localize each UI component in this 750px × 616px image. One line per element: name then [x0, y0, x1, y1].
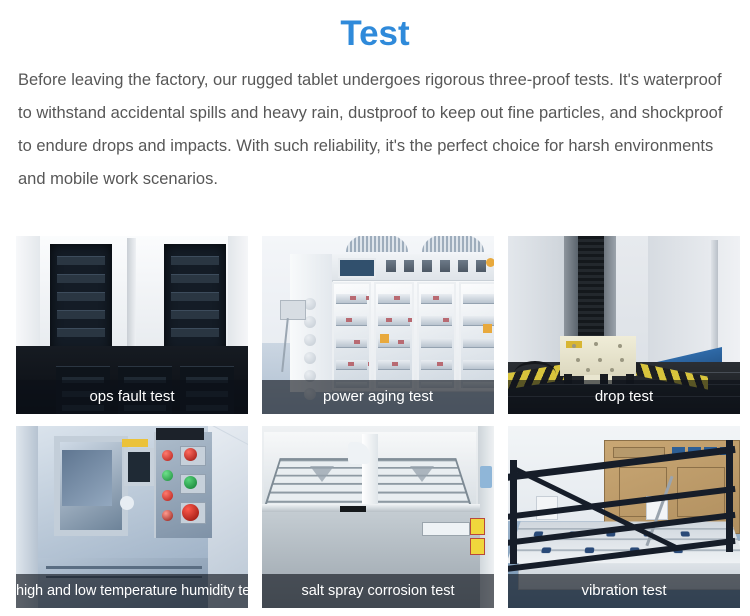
gallery-tile-ops-fault-test[interactable]: ops fault test	[16, 236, 248, 414]
tile-caption: ops fault test	[16, 380, 248, 414]
tile-caption: salt spray corrosion test	[262, 574, 494, 608]
gallery-tile-drop-test[interactable]: drop test	[508, 236, 740, 414]
tile-caption: drop test	[508, 380, 740, 414]
page-title: Test	[0, 0, 750, 56]
section-description: Before leaving the factory, our rugged t…	[18, 64, 732, 196]
tile-caption: high and low temperature humidity test	[16, 574, 248, 608]
gallery-tile-power-aging-test[interactable]: power aging test	[262, 236, 494, 414]
test-section-page: Test Before leaving the factory, our rug…	[0, 0, 750, 616]
gallery-tile-vibration-test[interactable]: vibration test	[508, 426, 740, 608]
test-photo-gallery: ops fault test	[16, 236, 734, 608]
tile-caption: power aging test	[262, 380, 494, 414]
tile-caption: vibration test	[508, 574, 740, 608]
gallery-tile-salt-spray-test[interactable]: salt spray corrosion test	[262, 426, 494, 608]
gallery-tile-temperature-humidity-test[interactable]: high and low temperature humidity test	[16, 426, 248, 608]
